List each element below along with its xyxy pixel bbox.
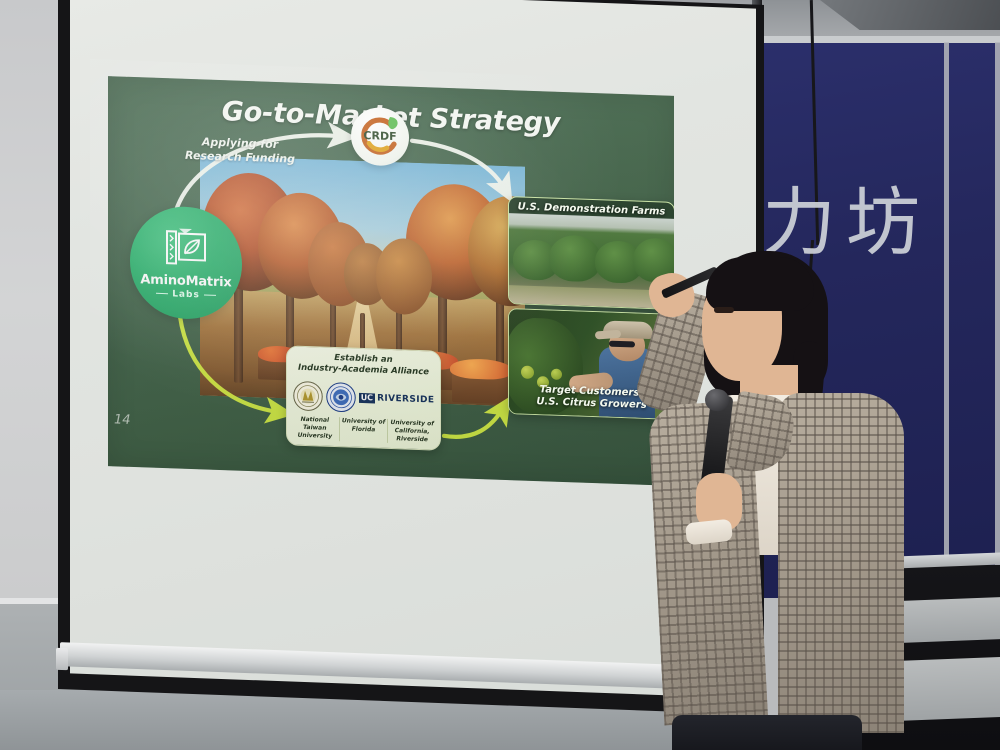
screen-bottom-bar-end (56, 648, 68, 670)
aminomatrix-name: AminoMatrix (140, 273, 231, 289)
screenshot-root: 力坊 (0, 0, 1000, 750)
funding-label-line2: Research Funding (185, 149, 295, 166)
slide-number: 14 (114, 412, 131, 428)
aminomatrix-sub: Labs (156, 288, 216, 300)
alliance-card: Establish an Industry-Academia Alliance (286, 345, 441, 450)
wall-divider (944, 42, 949, 598)
presentation-slide: Go-to-Market Strategy Applying for Resea… (108, 76, 674, 486)
uni0-l2: University (298, 432, 333, 440)
alliance-member-name: National Taiwan University (291, 416, 339, 442)
alliance-title: Establish an Industry-Academia Alliance (291, 352, 436, 379)
alliance-logos-row: UC RIVERSIDE (291, 379, 436, 418)
ucr-badge: UC (359, 393, 375, 404)
wall-cap-rail (760, 36, 1000, 43)
presenter-trousers (672, 715, 862, 750)
crdf-logo: CRDF (351, 107, 409, 167)
crdf-label: CRDF (363, 129, 396, 143)
presenter-eye (714, 307, 734, 313)
uni1-l2: Florida (352, 426, 376, 434)
alliance-title-line1: Establish an (334, 353, 392, 365)
crdf-citrus-icon: CRDF (354, 110, 406, 164)
leaf-book-icon (163, 226, 209, 270)
funding-flow-label: Applying for Research Funding (180, 135, 300, 167)
uni2-l3: Riverside (396, 435, 428, 443)
alliance-member-name: University of California, Riverside (387, 419, 436, 445)
ntu-seal-icon (293, 381, 323, 412)
alliance-title-line2: Industry-Academia Alliance (298, 363, 429, 378)
uni2-l2: California, (395, 427, 430, 435)
dash-left (156, 293, 168, 294)
ucr-word: RIVERSIDE (377, 394, 434, 406)
dash-right (204, 294, 216, 295)
presenter-hair-front (706, 257, 814, 311)
uni0-l1: National Taiwan (301, 416, 330, 432)
alliance-member-name: University of Florida (339, 417, 388, 443)
presenter (620, 245, 910, 750)
uni1-l1: University of (342, 417, 385, 426)
wall-divider (995, 42, 1000, 598)
ucr-wordmark-icon: UC RIVERSIDE (359, 393, 435, 406)
uni2-l1: University of (390, 419, 433, 428)
presenter-jacket-right (778, 393, 904, 733)
uf-seal-icon (326, 382, 356, 413)
aminomatrix-sub-label: Labs (172, 289, 200, 300)
alliance-names-row: National Taiwan University University of… (291, 416, 436, 445)
